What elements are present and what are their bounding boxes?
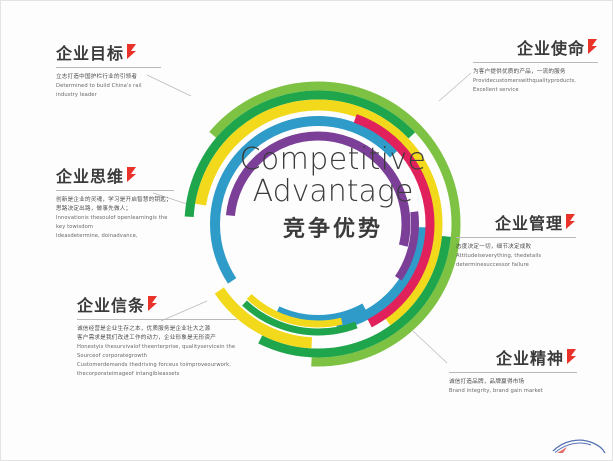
flag-icon (566, 349, 577, 364)
callout-thinking-en-2: Ideasdetermine, doinadvance, (56, 232, 174, 241)
callout-creed-head: 企业信条 (77, 298, 237, 314)
callout-spirit-cn-0: 诚信打造品牌，品牌赢得市场 (449, 378, 577, 387)
callout-creed-body: 诚信经营是企业生存之本，优质服务是企业壮大之源 客户需求是我们改进工作的动力，企… (77, 325, 237, 379)
callout-goal-rule (56, 67, 161, 68)
callout-management-en-0: Attitudeiseverything, thedetails (456, 252, 576, 261)
callout-mission-rule (473, 62, 598, 63)
callout-goal-body: 立志打造中国护栏行业的引领者 Determined to build China… (56, 73, 161, 100)
callout-creed-en-0: Honestyis thesurvivalof theenterprise, q… (77, 343, 237, 352)
callout-creed-cn-0: 诚信经营是企业生存之本，优质服务是企业壮大之源 (77, 325, 237, 334)
flag-icon (587, 39, 598, 54)
callout-spirit[interactable]: 企业精神 诚信打造品牌，品牌赢得市场 Brand integrity, bran… (449, 351, 577, 396)
callout-mission-title: 企业使命 (517, 41, 585, 57)
callout-management-en-1: determinesuccessor failure (456, 261, 576, 270)
arc-purple-accent (221, 127, 415, 321)
callout-mission-cn-0: 为客户提供优质的产品，一流的服务 (473, 68, 598, 77)
watermark-logo (549, 433, 607, 457)
flag-icon (126, 167, 137, 182)
callout-thinking-head: 企业思维 (56, 169, 174, 185)
callout-creed-en-3: thecorporateimageof intangibleassets (77, 370, 237, 379)
callout-management-cn-0: 态度决定一切，细节决定成败 (456, 243, 576, 252)
callout-creed-rule (77, 319, 237, 320)
callout-spirit-head: 企业精神 (449, 351, 577, 367)
callout-goal-title: 企业目标 (56, 46, 124, 62)
callout-goal-cn-0: 立志打造中国护栏行业的引领者 (56, 73, 161, 82)
callout-thinking-en-1: key towisdom (56, 223, 174, 232)
arc-purple (230, 136, 406, 312)
callout-management[interactable]: 企业管理 态度决定一切，细节决定成败 Attitudeiseverything,… (456, 216, 576, 270)
arc-blue (215, 121, 421, 327)
callout-goal-en-0: Determined to build China's rail (56, 82, 161, 91)
callout-spirit-body: 诚信打造品牌，品牌赢得市场 Brand integrity, brand gai… (449, 378, 577, 396)
callout-mission-en-0: Providecustomerswithqualityproducts, (473, 77, 598, 86)
callout-management-head: 企业管理 (456, 216, 576, 232)
flag-icon (565, 214, 576, 229)
callout-thinking-title: 企业思维 (56, 169, 124, 185)
callout-creed-en-2: Customerdemands thedriving forceus toimp… (77, 361, 237, 370)
callout-creed-cn-1: 客户需求是我们改进工作的动力，企业形象是无形资产 (77, 334, 237, 343)
callout-spirit-en-0: Brand integrity, brand gain market (449, 387, 577, 396)
callout-thinking-body: 创新是企业的灵魂，学习是开启智慧的钥匙； 思路决定出路，做事先做人； Innov… (56, 196, 174, 241)
arc-crimson (206, 112, 430, 336)
callout-goal[interactable]: 企业目标 立志打造中国护栏行业的引领者 Determined to build … (56, 46, 161, 100)
callout-mission-head: 企业使命 (473, 41, 598, 57)
callout-management-rule (456, 237, 576, 238)
callout-thinking-en-0: Innovationis thesoulof openlearningis th… (56, 214, 174, 223)
infographic-canvas: Competitive Advantage 竞争优势 企业目标 立志打造中国护栏… (0, 0, 613, 461)
callout-mission[interactable]: 企业使命 为客户提供优质的产品，一流的服务 Providecustomerswi… (473, 41, 598, 95)
callout-creed[interactable]: 企业信条 诚信经营是企业生存之本，优质服务是企业壮大之源 客户需求是我们改进工作… (77, 298, 237, 379)
callout-goal-head: 企业目标 (56, 46, 161, 62)
callout-thinking-cn-0: 创新是企业的灵魂，学习是开启智慧的钥匙； (56, 196, 174, 205)
arc-blue-accent (223, 129, 413, 319)
callout-creed-title: 企业信条 (77, 298, 145, 314)
callout-mission-body: 为客户提供优质的产品，一流的服务 Providecustomerswithqua… (473, 68, 598, 95)
callout-spirit-title: 企业精神 (496, 351, 564, 367)
callout-spirit-rule (449, 372, 577, 373)
callout-thinking[interactable]: 企业思维 创新是企业的灵魂，学习是开启智慧的钥匙； 思路决定出路，做事先做人； … (56, 169, 174, 241)
callout-creed-en-1: Sourceof corporategrowth (77, 352, 237, 361)
callout-management-body: 态度决定一切，细节决定成败 Attitudeiseverything, thed… (456, 243, 576, 270)
callout-thinking-rule (56, 190, 174, 191)
flag-icon (126, 44, 137, 59)
callout-management-title: 企业管理 (495, 216, 563, 232)
flag-icon (147, 296, 158, 311)
callout-thinking-cn-1: 思路决定出路，做事先做人； (56, 205, 174, 214)
callout-mission-en-1: Excellent service (473, 86, 598, 95)
callout-goal-en-1: industry leader (56, 91, 161, 100)
